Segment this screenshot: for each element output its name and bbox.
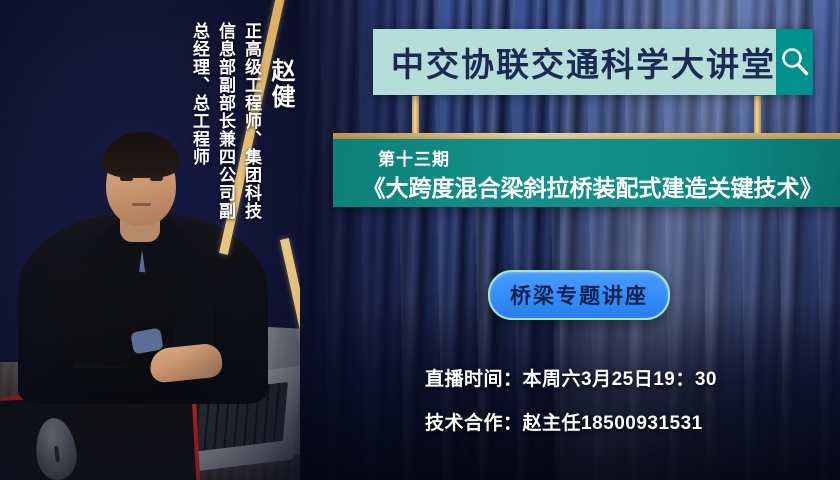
speaker-credential-line-2: 信息部副部长兼四公司副 <box>213 22 238 220</box>
program-title: 《大跨度混合梁斜拉桥装配式建造关键技术》 <box>345 169 840 203</box>
speaker-name: 赵健 <box>263 58 298 110</box>
contact-text: 技术合作：赵主任18500931531 <box>425 408 703 435</box>
banner-title: 中交协联交通科学大讲堂 <box>373 38 776 86</box>
promo-poster: 总经理、总工程师 信息部副部长兼四公司副 正高级工程师、集团科技 赵健 中交协联… <box>0 0 840 480</box>
live-time-text: 直播时间：本周六3月25日19：30 <box>425 364 717 391</box>
search-icon[interactable] <box>776 29 813 95</box>
gold-post-left <box>412 96 419 136</box>
speaker-credential-line-3: 总经理、总工程师 <box>187 22 212 166</box>
gold-post-right <box>754 96 761 136</box>
topic-badge[interactable]: 桥梁专题讲座 <box>488 270 670 320</box>
program-panel: 第十三期 《大跨度混合梁斜拉桥装配式建造关键技术》 <box>333 139 840 207</box>
speaker-credential-line-1: 正高级工程师、集团科技 <box>239 22 264 220</box>
program-issue: 第十三期 <box>378 145 450 170</box>
banner: 中交协联交通科学大讲堂 <box>373 29 813 95</box>
topic-badge-label: 桥梁专题讲座 <box>510 280 648 310</box>
